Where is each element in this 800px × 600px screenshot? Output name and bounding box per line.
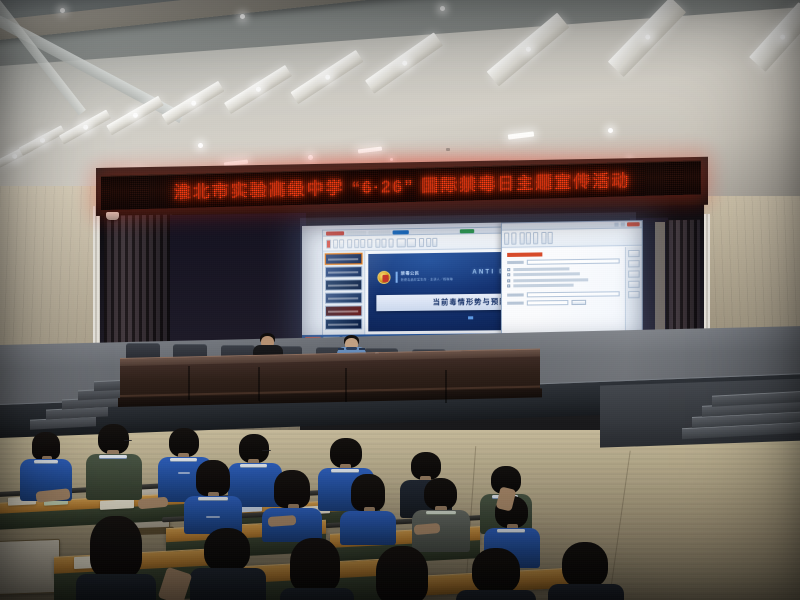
tab-chip[interactable] [326, 231, 344, 235]
ribbon-button[interactable] [407, 238, 416, 247]
ribbon-button[interactable] [426, 237, 431, 246]
slide-thumbnail[interactable] [325, 292, 362, 303]
ribbon-button[interactable] [533, 232, 538, 244]
slide-thumbnail-panel[interactable] [323, 251, 365, 335]
minimize-button[interactable] [614, 223, 618, 227]
student-head [204, 528, 250, 572]
student [76, 516, 156, 600]
police-emblem-icon [377, 271, 390, 284]
slide-thumbnail[interactable] [325, 318, 362, 329]
ceiling-light-trough [59, 110, 111, 145]
side-panel-button[interactable] [628, 270, 640, 277]
table-seam [345, 368, 347, 402]
uniform-collar [198, 497, 228, 500]
student [340, 474, 396, 544]
form-panel[interactable] [502, 247, 625, 334]
ceiling-light-trough [19, 125, 66, 155]
ribbon-button[interactable] [519, 232, 524, 244]
form-checkbox[interactable] [507, 273, 510, 276]
form-row[interactable] [507, 283, 619, 287]
security-camera-icon [106, 212, 119, 220]
ceiling-downlight [440, 6, 445, 11]
form-workspace [502, 247, 642, 335]
form-ribbon-toolbar[interactable] [502, 228, 642, 248]
slide-title-text: 当前毒情形势与预防 [433, 297, 508, 308]
form-input[interactable] [527, 291, 620, 297]
ribbon-group[interactable] [519, 232, 538, 245]
officer-shoulder-board [338, 348, 344, 350]
student [86, 424, 142, 500]
uniform-collar [99, 455, 127, 458]
ribbon-button[interactable] [381, 238, 386, 247]
slide-accent-mark [468, 316, 473, 319]
uniform-collar [34, 460, 58, 463]
form-option-text [513, 272, 579, 276]
auditorium-photo: 淮北市实验高级中学 “6·26” 国际禁毒日主题宣传活动 [0, 0, 800, 600]
ceiling-downlight [608, 128, 613, 133]
stage-wing-pillar [655, 222, 665, 344]
student-head [562, 542, 608, 588]
student [364, 546, 442, 600]
ceiling-light-trough [106, 96, 163, 136]
form-option-text [513, 284, 573, 288]
ribbon-button[interactable] [333, 239, 338, 248]
slide-org-subtitle: 拒绝毒品珍爱生命 · 主讲人／杨琳琳 [401, 277, 453, 282]
form-input[interactable] [527, 258, 620, 264]
officer-collar [346, 347, 357, 350]
ribbon-button[interactable] [360, 238, 365, 247]
ribbon-button[interactable] [326, 239, 331, 248]
form-row[interactable] [507, 291, 619, 297]
handout-paper [100, 499, 134, 510]
form-row[interactable] [507, 272, 619, 277]
ribbon-group[interactable] [504, 232, 516, 244]
ribbon-button[interactable] [375, 238, 380, 247]
student-hair [351, 474, 385, 511]
student [190, 528, 266, 600]
slide-divider [396, 272, 398, 283]
stage-curtain-left [104, 211, 172, 352]
form-input[interactable] [527, 299, 569, 305]
ribbon-group[interactable] [375, 238, 393, 247]
maximize-button[interactable] [621, 222, 625, 226]
ceiling-light-trough [224, 65, 292, 114]
ribbon-button[interactable] [541, 232, 546, 244]
glasses-icon [124, 440, 132, 442]
form-checkbox[interactable] [507, 268, 510, 271]
student-uniform [190, 568, 266, 600]
ribbon-group[interactable] [326, 239, 344, 248]
student-hair [274, 470, 310, 508]
tab-chip[interactable] [393, 230, 409, 234]
table-seam [445, 370, 447, 403]
student-arm [268, 515, 297, 527]
ribbon-button[interactable] [339, 239, 344, 248]
form-row[interactable] [507, 299, 619, 305]
slide-thumbnail[interactable] [325, 253, 362, 265]
uniform-logo [206, 516, 220, 518]
uniform-collar [331, 469, 359, 472]
student-hair [90, 516, 142, 578]
side-panel-button[interactable] [628, 291, 640, 298]
ribbon-button[interactable] [354, 239, 359, 248]
student [412, 478, 470, 550]
form-side-panel[interactable] [625, 247, 642, 333]
tab-chip[interactable] [437, 229, 457, 233]
slide-thumbnail[interactable] [325, 279, 362, 291]
ribbon-button[interactable] [419, 238, 424, 247]
form-submit-button[interactable] [571, 299, 586, 304]
student-uniform [280, 588, 354, 600]
auditorium-seat [0, 539, 60, 595]
ceiling-light-trough [290, 50, 363, 104]
ribbon-group[interactable] [541, 232, 553, 244]
student [262, 470, 322, 540]
close-button[interactable] [627, 222, 640, 226]
side-panel-button[interactable] [628, 281, 640, 288]
slide-thumbnail[interactable] [325, 266, 362, 278]
student [456, 548, 536, 600]
student [548, 542, 624, 600]
student-uniform [456, 590, 536, 600]
form-row[interactable] [507, 277, 619, 282]
ceiling-light-trough [749, 2, 800, 72]
ribbon-button[interactable] [432, 237, 437, 246]
form-label [507, 301, 524, 304]
ribbon-button[interactable] [511, 232, 516, 244]
uniform-collar [497, 529, 525, 532]
ribbon-button[interactable] [388, 238, 393, 247]
form-option-text [513, 278, 588, 282]
student [184, 460, 242, 532]
table-seam [258, 367, 260, 401]
uniform-collar [426, 511, 456, 514]
side-panel-button[interactable] [628, 260, 640, 267]
officer-shoulder-board [359, 348, 365, 350]
ribbon-button[interactable] [548, 232, 553, 244]
tab-chip[interactable] [460, 229, 474, 233]
ceiling-slot-light [508, 131, 534, 139]
form-checkbox[interactable] [507, 279, 510, 282]
projection-screen: 禁毒公民 拒绝毒品珍爱生命 · 主讲人／杨琳琳 ANTI DRUG POLICE… [302, 220, 643, 344]
uniform-collar [240, 464, 267, 467]
tab-chip[interactable] [411, 230, 435, 234]
ceiling-light-trough [162, 81, 225, 125]
ribbon-button[interactable] [367, 238, 372, 247]
ceiling-downlight [240, 14, 245, 19]
form-option-text [513, 267, 569, 271]
form-row[interactable] [507, 258, 619, 265]
student-hair [376, 546, 428, 600]
tab-chip[interactable] [368, 230, 390, 234]
ribbon-button[interactable] [526, 232, 531, 244]
form-section-header [507, 252, 542, 257]
projected-desktop: 禁毒公民 拒绝毒品珍爱生命 · 主讲人／杨琳琳 ANTI DRUG POLICE… [302, 220, 643, 344]
form-label [507, 261, 524, 264]
slide-thumbnail[interactable] [325, 305, 362, 316]
side-panel-button[interactable] [628, 250, 640, 257]
ribbon-group[interactable] [396, 238, 416, 247]
ceiling-downlight [198, 143, 203, 148]
ribbon-button[interactable] [396, 238, 405, 247]
ceiling-downlight [60, 8, 65, 13]
form-label [507, 293, 524, 296]
student [278, 538, 354, 600]
ribbon-group[interactable] [419, 237, 437, 246]
slide-org-name: 禁毒公民 [401, 270, 420, 276]
tab-chip[interactable] [346, 231, 366, 235]
student-head [472, 548, 520, 594]
ribbon-button[interactable] [504, 233, 509, 245]
form-checkbox[interactable] [507, 284, 510, 287]
ceiling-light-trough [365, 32, 443, 93]
student-hair [196, 460, 230, 496]
office-form-window[interactable] [501, 220, 643, 342]
student-hair [290, 538, 340, 592]
student-uniform [86, 454, 142, 500]
ribbon-button[interactable] [347, 239, 352, 248]
student-uniform [548, 584, 624, 600]
glasses-icon [262, 450, 271, 452]
ribbon-group[interactable] [347, 238, 372, 247]
form-row[interactable] [507, 266, 619, 271]
student-uniform [76, 574, 156, 600]
table-seam [188, 366, 190, 400]
